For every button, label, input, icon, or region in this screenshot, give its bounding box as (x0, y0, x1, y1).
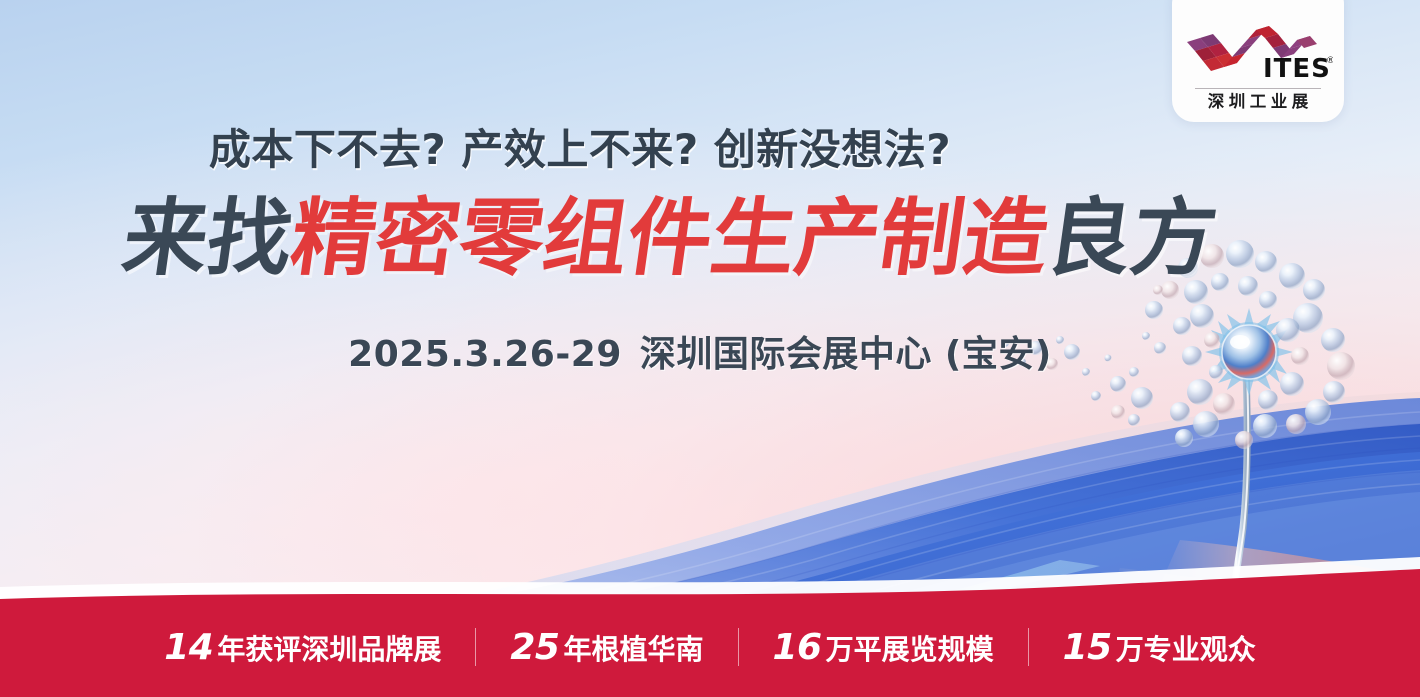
stat-number: 15 (1063, 627, 1112, 668)
stat-number: 14 (164, 627, 213, 668)
stats-bar: 14年获评深圳品牌展 25年根植华南 16万平展览规模 15万专业观众 (0, 557, 1420, 697)
stat-item: 25年根植华南 (476, 627, 737, 668)
headline-emphasis: 精密零组件生产制造 (286, 196, 1054, 280)
stat-label: 年获评深圳品牌展 (217, 628, 441, 668)
headline-suffix: 良方 (1042, 196, 1222, 280)
event-info-line: 2025.3.26-29深圳国际会展中心 (宝安) (0, 325, 1400, 377)
main-headline: 来找精密零组件生产制造良方 (0, 196, 1346, 280)
event-date: 2025.3.26-29 (348, 334, 622, 375)
stat-number: 25 (510, 627, 559, 668)
stat-label: 年根植华南 (563, 628, 703, 668)
kicker-question-line: 成本下不去? 产效上不来? 创新没想法? (0, 116, 1160, 177)
stat-item: 15万专业观众 (1029, 627, 1290, 668)
svg-text:®: ® (1326, 56, 1333, 66)
ites-logo-mark: ITES ® (1183, 21, 1333, 83)
logo-divider-rule (1195, 88, 1321, 89)
stat-label: 万专业观众 (1116, 628, 1256, 668)
stat-label: 万平展览规模 (826, 628, 994, 668)
promo-banner: ITES ® 深圳工业展 成本下不去? 产效上不来? 创新没想法? 来找精密零组… (0, 0, 1420, 697)
stat-item: 14年获评深圳品牌展 (130, 627, 475, 668)
stat-item: 16万平展览规模 (739, 627, 1028, 668)
stat-number: 16 (773, 627, 822, 668)
stats-row: 14年获评深圳品牌展 25年根植华南 16万平展览规模 15万专业观众 (0, 597, 1420, 697)
headline-prefix: 来找 (118, 196, 298, 280)
ites-logo-badge: ITES ® 深圳工业展 (1172, 0, 1344, 122)
svg-text:ITES: ITES (1263, 54, 1331, 83)
event-venue: 深圳国际会展中心 (宝安) (640, 334, 1052, 375)
logo-chinese-name: 深圳工业展 (1203, 94, 1313, 111)
